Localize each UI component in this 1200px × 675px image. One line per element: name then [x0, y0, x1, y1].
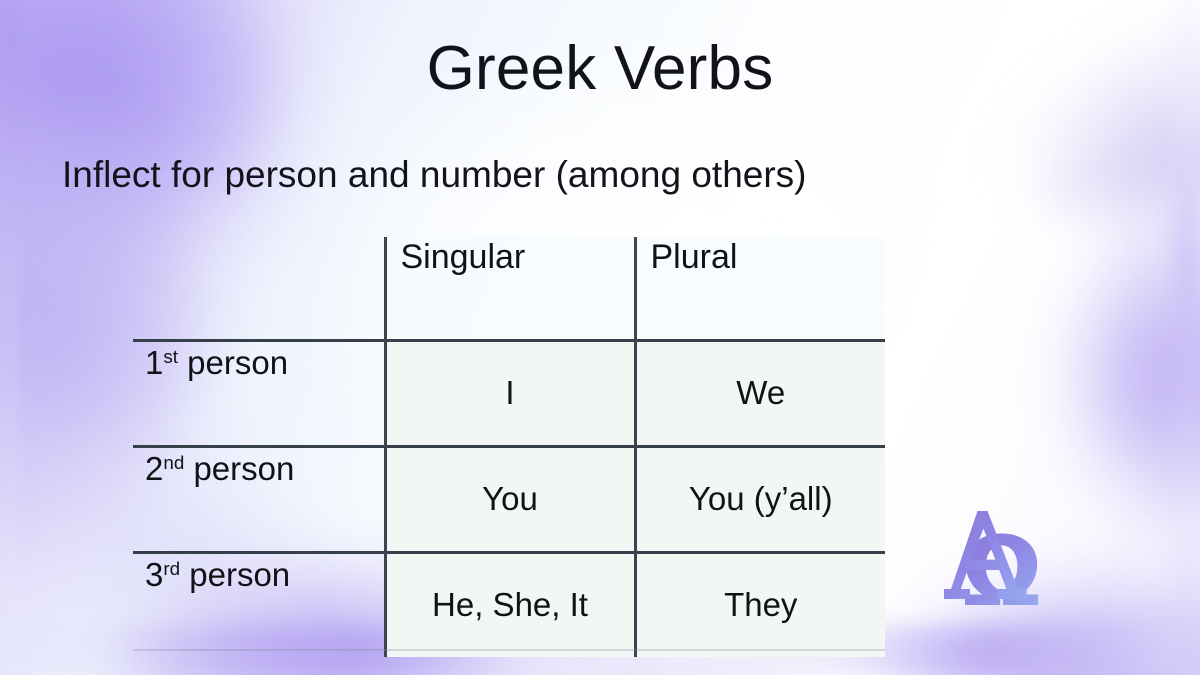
cell-second-person-singular: You: [385, 447, 635, 553]
column-header-singular: Singular: [385, 237, 635, 341]
background-blob-right-upper: [1110, 90, 1200, 280]
verb-inflection-table: Singular Plural 1st person I We 2nd pers…: [133, 237, 885, 657]
row-label-word: person: [184, 450, 294, 487]
table-row: 1st person I We: [133, 341, 885, 447]
table-row: 2nd person You You (y’all): [133, 447, 885, 553]
cell-first-person-plural: We: [635, 341, 885, 447]
table-header-row: Singular Plural: [133, 237, 885, 341]
row-label-number: 2: [145, 450, 163, 487]
row-label-ordinal: nd: [163, 452, 184, 473]
cell-first-person-singular: I: [385, 341, 635, 447]
row-label-second-person: 2nd person: [133, 447, 385, 553]
background-edge-left: [0, 0, 16, 675]
row-label-number: 1: [145, 344, 163, 381]
background-wisp-top-right-2: [1027, 84, 1200, 247]
cell-third-person-singular: He, She, It: [385, 553, 635, 658]
table-row: 3rd person He, She, It They: [133, 553, 885, 658]
row-label-word: person: [178, 344, 288, 381]
table-corner-cell: [133, 237, 385, 341]
slide-subtitle: Inflect for person and number (among oth…: [62, 155, 807, 196]
cell-second-person-plural: You (y’all): [635, 447, 885, 553]
column-header-plural: Plural: [635, 237, 885, 341]
background-wisp-top-right: [982, 0, 1200, 245]
row-label-number: 3: [145, 556, 163, 593]
table-bottom-hairline: [133, 649, 885, 651]
slide-canvas: Greek Verbs Inflect for person and numbe…: [0, 0, 1200, 675]
row-label-ordinal: st: [163, 346, 178, 367]
background-blob-right-mid: [1085, 215, 1200, 535]
background-edge-right: [1174, 0, 1200, 675]
page-title: Greek Verbs: [0, 38, 1200, 100]
cell-third-person-plural: They: [635, 553, 885, 658]
row-label-third-person: 3rd person: [133, 553, 385, 658]
row-label-ordinal: rd: [163, 558, 180, 579]
alpha-omega-logo: [938, 505, 1066, 615]
row-label-first-person: 1st person: [133, 341, 385, 447]
row-label-word: person: [180, 556, 290, 593]
